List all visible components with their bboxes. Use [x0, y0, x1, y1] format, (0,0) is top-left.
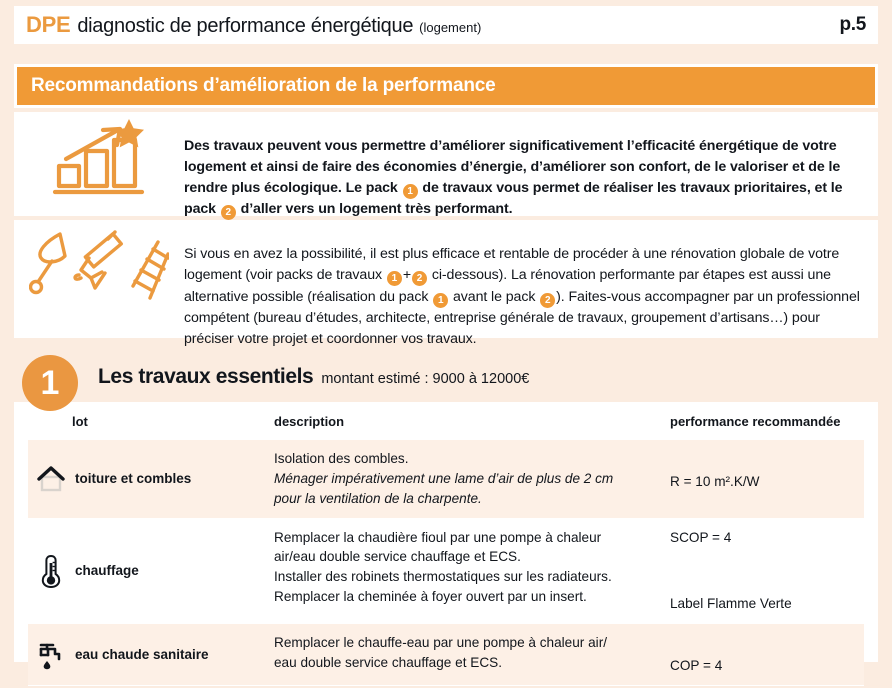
page-title: diagnostic de performance énergétique: [77, 15, 413, 38]
lot-label: toiture et combles: [75, 471, 191, 486]
description-line: Remplacer la cheminée à foyer ouvert par…: [274, 587, 662, 607]
description-line: pour la ventilation de la charpente.: [274, 489, 662, 509]
pack-badge-1: 1: [387, 271, 402, 286]
description-line: Isolation des combles.: [274, 449, 662, 469]
intro-paragraph-renovation: Si vous en avez la possibilité, il est p…: [184, 244, 864, 350]
spacer: [670, 633, 864, 656]
intro-paragraph-works: Des travaux peuvent vous permettre d’amé…: [184, 136, 864, 220]
header-title-group: DPE diagnostic de performance énergétiqu…: [26, 12, 481, 38]
recommendations-banner-label: Recommandations d’amélioration de la per…: [31, 75, 495, 97]
table-cell-description: Isolation des combles. Ménager impérativ…: [274, 440, 670, 518]
description-line: air/eau double service chauffage et ECS.: [274, 547, 662, 567]
table-cell-description: Remplacer la chaudière fioul par une pom…: [274, 519, 670, 623]
performance-line: SCOP = 4: [670, 528, 864, 548]
pack-badge-2: 2: [221, 205, 236, 220]
spacer: [670, 547, 864, 570]
table-header-row: lot description performance recommandée: [28, 402, 864, 440]
column-header-description: description: [274, 414, 670, 429]
table-cell-performance: COP = 4: [670, 624, 864, 685]
intro-block-renovation-body: Si vous en avez la possibilité, il est p…: [184, 220, 878, 365]
roof-house-icon: [36, 464, 66, 494]
thermometer-icon: [36, 556, 66, 586]
pack-badge-2: 2: [412, 271, 427, 286]
recommendations-banner-wrapper: Recommandations d’amélioration de la per…: [14, 64, 878, 108]
table-row: chauffage Remplacer la chaudière fioul p…: [28, 519, 864, 624]
performance-line: COP = 4: [670, 656, 864, 676]
lot-label: chauffage: [75, 563, 139, 578]
description-line: eau double service chauffage et ECS.: [274, 653, 662, 673]
performance-line: R = 10 m².K/W: [670, 472, 864, 492]
intro-block-renovation: Si vous en avez la possibilité, il est p…: [14, 220, 878, 338]
pack-badge-1: 1: [403, 184, 418, 199]
lot-label: eau chaude sanitaire: [75, 647, 209, 662]
pack-badge-4: 2: [540, 293, 555, 308]
spacer: [670, 449, 864, 472]
table-cell-lot: eau chaude sanitaire: [28, 624, 274, 685]
description-line: Installer des robinets thermostatiques s…: [274, 567, 662, 587]
section-title: Les travaux essentiels: [98, 365, 313, 389]
intro-works-text-3: d’aller vers un logement très performant…: [237, 201, 513, 217]
table-cell-description: Remplacer le chauffe-eau par une pompe à…: [274, 624, 670, 685]
table-cell-lot: chauffage: [28, 519, 274, 623]
section-heading: Les travaux essentiels montant estimé : …: [98, 365, 529, 389]
intro-renovation-text-2: +: [403, 267, 411, 283]
page-number: p.5: [839, 14, 866, 36]
description-line: Remplacer la chaudière fioul par une pom…: [274, 528, 662, 548]
section-number-badge: 1: [22, 355, 78, 411]
performance-line: Label Flamme Verte: [670, 594, 864, 614]
description-line: Ménager impérativement une lame d’air de…: [274, 469, 662, 489]
table-cell-performance: R = 10 m².K/W: [670, 440, 864, 518]
growth-chart-star-icon: [14, 112, 184, 196]
intro-renovation-text-4: avant le pack: [449, 289, 539, 305]
table-row: toiture et combles Isolation des combles…: [28, 440, 864, 519]
renovation-tools-icon: [14, 220, 184, 306]
description-line: Remplacer le chauffe-eau par une pompe à…: [274, 633, 662, 653]
intro-block-works-body: Des travaux peuvent vous permettre d’amé…: [184, 112, 878, 234]
dpe-logo: DPE: [26, 12, 70, 38]
table-row: eau chaude sanitaire Remplacer le chauff…: [28, 624, 864, 686]
recommendations-table: lot description performance recommandée …: [14, 402, 878, 662]
page-subtitle: (logement): [419, 20, 481, 35]
table-cell-lot: toiture et combles: [28, 440, 274, 518]
recommendations-banner: Recommandations d’amélioration de la per…: [17, 67, 875, 105]
column-header-lot: lot: [28, 414, 274, 429]
spacer: [670, 571, 864, 594]
table-cell-performance: SCOP = 4 Label Flamme Verte: [670, 519, 864, 623]
faucet-water-drop-icon: [36, 640, 66, 670]
pack-badge-3: 1: [433, 293, 448, 308]
page-header: DPE diagnostic de performance énergétiqu…: [14, 6, 878, 44]
section-estimated-amount: montant estimé : 9000 à 12000€: [321, 371, 529, 387]
column-header-performance: performance recommandée: [670, 414, 864, 429]
intro-block-works: Des travaux peuvent vous permettre d’amé…: [14, 112, 878, 216]
